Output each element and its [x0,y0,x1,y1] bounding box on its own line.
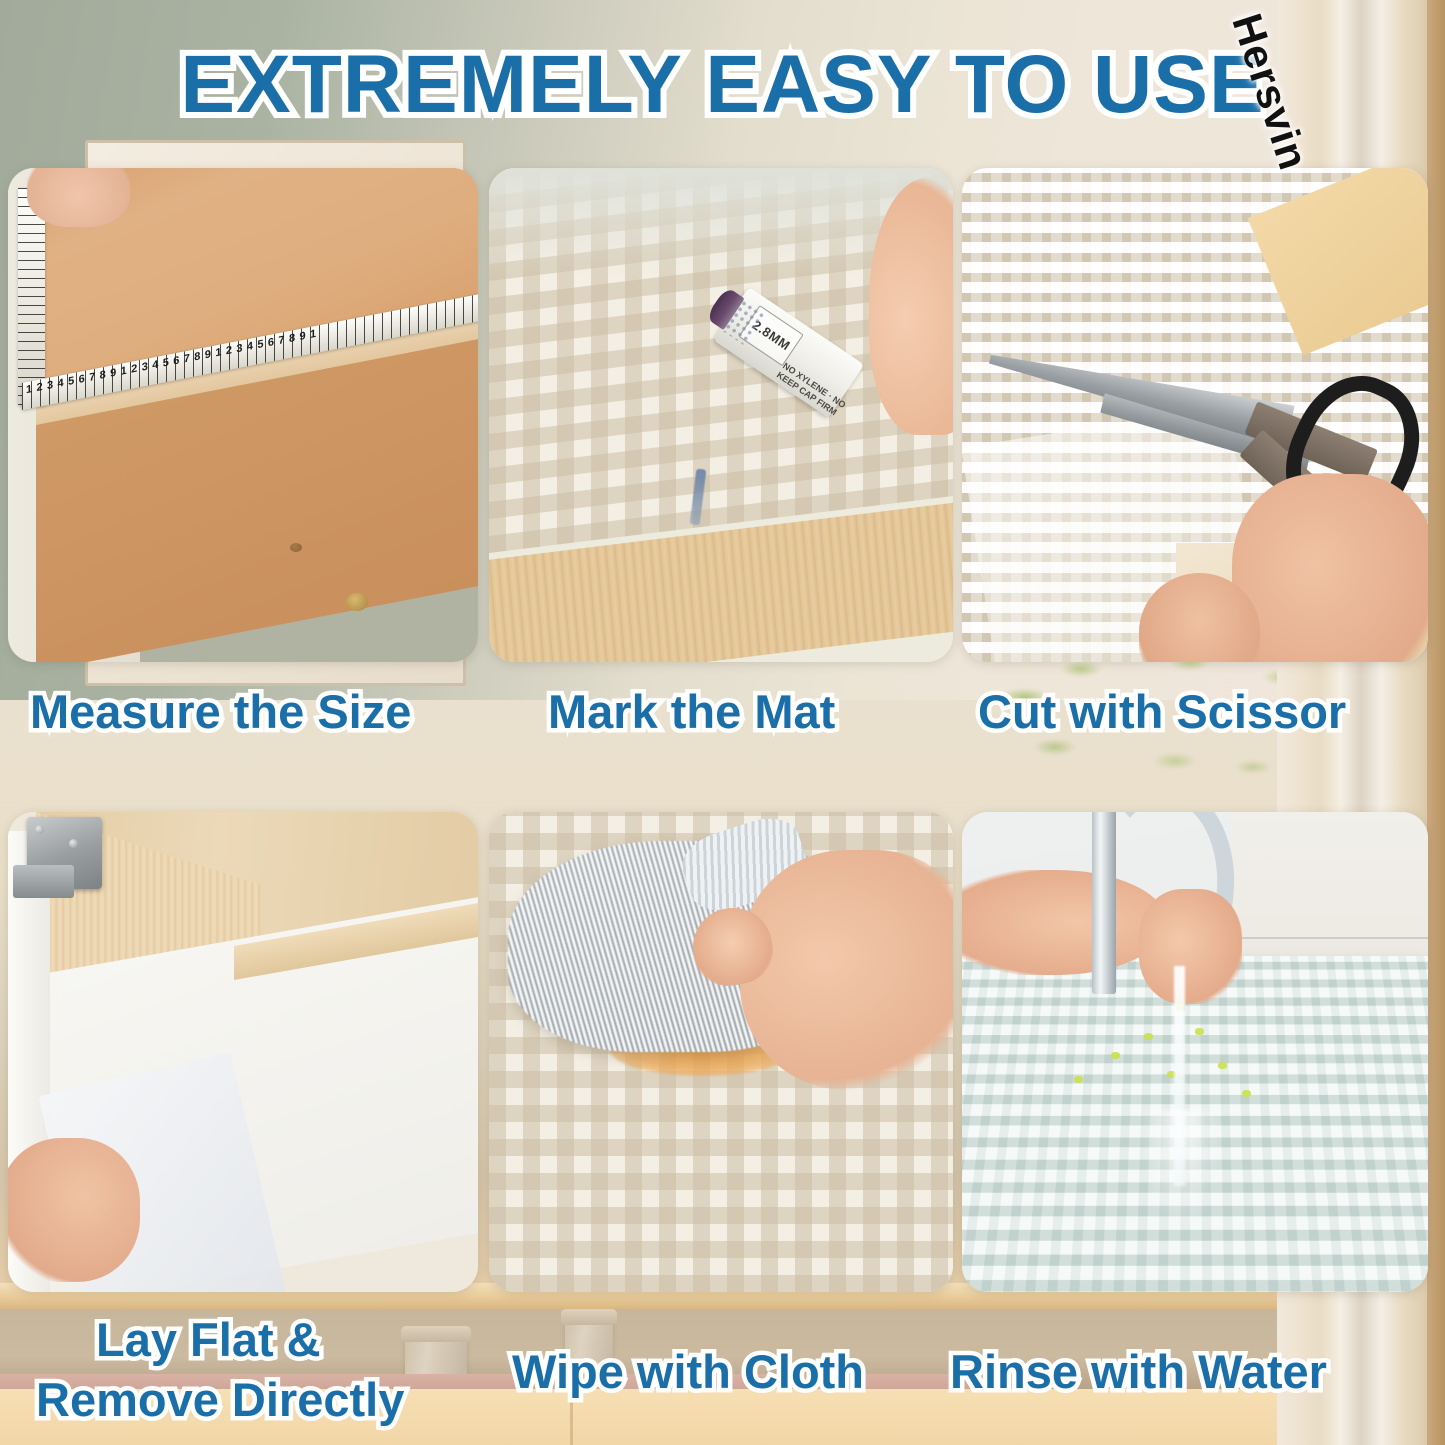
food-bit [1218,1062,1227,1069]
caption-mark: Mark the Mat [548,688,835,736]
caption-lay-flat-line1: Lay Flat & [96,1316,321,1364]
background-right-frame-edge [1427,0,1445,1445]
food-bit [1111,1052,1120,1059]
step-photo-wipe [489,812,953,1292]
step-photo-lay-flat [8,812,478,1292]
caption-measure: Measure the Size [30,688,411,736]
hand-holding-liner [1139,889,1242,1004]
hand-holding-scissors [1232,474,1428,662]
product-infographic: 1234567891234567891234567891 2.8MM NO XY… [0,0,1445,1445]
caption-rinse: Rinse with Water [950,1348,1327,1396]
hand-lift-icon [8,1138,140,1282]
step-photo-cut [962,168,1428,662]
food-bit [1242,1090,1251,1097]
step-photo-mark: 2.8MM NO XYLENE · NO KEEP CAP FIRM [489,168,953,662]
step-photo-measure: 1234567891234567891234567891 [8,168,478,662]
jar-lid [561,1309,617,1325]
food-bit [1144,1033,1153,1040]
caption-lay-flat-line2: Remove Directly [36,1376,404,1424]
tape-ticks [18,188,44,405]
hand-wiping [740,850,953,1090]
tape-measure-vertical [18,188,44,405]
caption-wipe: Wipe with Cloth [512,1348,864,1396]
jar-lid [401,1326,471,1342]
faucet-neck [1092,812,1115,994]
hand-holding-tape [27,168,130,227]
food-bit [1195,1028,1204,1035]
cabinet-hinge-arm [13,865,74,899]
step-photo-rinse [962,812,1428,1292]
food-bit [1074,1076,1083,1083]
hinge-screw [69,839,78,848]
hinge-screw [35,825,44,834]
caption-cut: Cut with Scissor [978,688,1346,736]
water-splash [1139,1110,1223,1235]
